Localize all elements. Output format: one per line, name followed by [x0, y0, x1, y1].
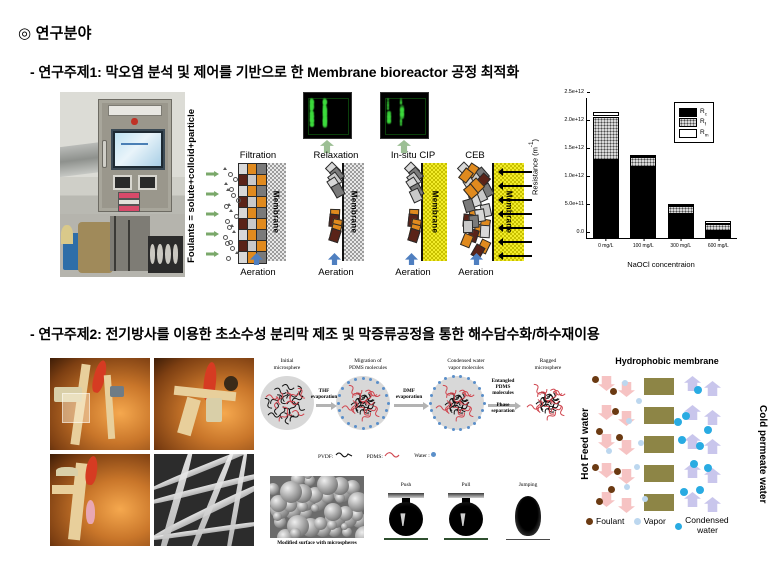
bullet-icon: ◎	[18, 25, 31, 42]
panel-ceb: CEB Membrane Aeration	[452, 150, 530, 278]
chart-xtick: 0 mg/L	[598, 243, 613, 249]
suspended-particle	[223, 167, 227, 170]
suspended-particle	[229, 187, 234, 192]
chart-bar-segment-Rm	[705, 221, 731, 224]
microsphere-ragged	[522, 376, 574, 428]
legend-water: Water :	[414, 452, 436, 459]
arrow-label-entangled: Entangled PDMS molecules Phase separatio…	[484, 378, 522, 414]
arrow-label-thf: THF evaporation	[308, 388, 340, 400]
page-title-text: 연구분야	[36, 25, 92, 42]
chart-bar-segment-Rc	[705, 231, 731, 238]
membrane-slab	[644, 407, 674, 424]
water-molecule-dot	[452, 375, 455, 378]
membrane-slab	[644, 378, 674, 395]
aeration-label: Aeration	[222, 267, 294, 278]
pvdf-curve-icon	[335, 450, 353, 458]
step-caption-2: Migration ofPDMS molecules	[332, 358, 404, 372]
suspended-particle	[224, 182, 228, 185]
chart-bar-segment-Rf	[668, 206, 694, 214]
chart-legend-item: Rc	[679, 108, 709, 117]
water-molecule-dot	[478, 387, 481, 390]
suspended-particle	[227, 203, 231, 206]
membrane-block: Membrane	[421, 163, 447, 261]
foulant-particle	[592, 464, 599, 471]
section-mbr: Foulants = solute+colloid+particle Filtr…	[0, 88, 768, 293]
feed-arrow-icon	[206, 251, 219, 257]
pdms-curve-icon	[384, 450, 400, 458]
feed-arrow-icon	[206, 191, 219, 197]
legend-swatch	[679, 129, 697, 138]
condensed-water-droplet	[704, 464, 712, 472]
chart-bar	[668, 204, 694, 238]
chart-bar-segment-Rf	[705, 224, 731, 231]
panel-title: CEB	[452, 150, 498, 161]
microsphere-condensed	[430, 376, 484, 430]
microsphere-grain	[335, 493, 345, 503]
water-molecule-dot	[347, 422, 350, 425]
legend-item-vapor: Vapor	[634, 516, 666, 526]
arrow-right-icon	[394, 404, 424, 407]
foulant-particle	[592, 376, 599, 383]
chart-ytick: 2.0e+12	[564, 117, 587, 123]
biofilm-spot	[310, 120, 313, 123]
chart-bar	[593, 112, 619, 238]
permeate-flow-arrow-icon	[704, 410, 721, 425]
water-molecule-dot	[473, 381, 476, 384]
foulant-particle	[614, 468, 621, 475]
foulant-particle	[608, 486, 615, 493]
chart-ytick: 0.0	[577, 229, 588, 235]
vapor-molecule	[638, 440, 644, 446]
water-molecule-dot	[438, 381, 441, 384]
biofilm-spot	[310, 123, 314, 127]
biofilm-spot	[387, 120, 391, 124]
electrospinning-photo-2	[154, 358, 254, 450]
water-molecule-dot	[444, 377, 447, 380]
confocal-image-cip	[380, 92, 429, 139]
suspended-particle	[232, 230, 236, 233]
condensed-water-droplet	[696, 486, 704, 494]
chart-legend-item: Rm	[679, 129, 709, 138]
membrane-distillation-legend: Foulant Vapor Condensed water	[586, 516, 764, 536]
membrane-slab	[644, 465, 674, 482]
legend-label: Rm	[700, 129, 709, 137]
foulant-particle	[616, 434, 623, 441]
foulant-floc	[480, 225, 491, 239]
microsphere-grain	[314, 517, 327, 530]
feed-flow-arrow-icon	[598, 434, 615, 449]
foulants-axis-label: Foulants = solute+colloid+particle	[186, 106, 197, 266]
legend-label: Rc	[700, 108, 707, 116]
panel-title: Filtration	[222, 150, 294, 161]
legend-item-foulant: Foulant	[586, 516, 624, 526]
aeration-label: Aeration	[452, 267, 500, 278]
aeration-label: Aeration	[300, 267, 372, 278]
panel-title: In-situ CIP	[377, 150, 449, 161]
electrospinning-photo-3	[50, 454, 150, 546]
meter-display-1	[113, 175, 132, 190]
cold-permeate-water-label: Cold permeate water	[757, 370, 768, 538]
aeration-label: Aeration	[377, 267, 449, 278]
chart-ytick: 2.5e+12	[564, 89, 587, 95]
membrane-label: Membrane	[350, 191, 359, 233]
electrospinning-photo-grid	[50, 358, 256, 548]
electrospinning-photo-1	[50, 358, 150, 450]
condensed-water-droplet	[682, 412, 690, 420]
droplet-label: Push	[380, 482, 432, 488]
switch-row-3	[118, 205, 140, 212]
water-molecule-dot	[354, 378, 357, 381]
water-molecule-dot	[430, 409, 433, 412]
water-molecule-dot	[478, 416, 481, 419]
microsphere-migration	[336, 376, 390, 430]
condensed-water-droplet	[696, 442, 704, 450]
condensed-water-droplet	[680, 488, 688, 496]
chart-ytick: 1.0e+12	[564, 173, 587, 179]
condensed-water-droplet	[690, 460, 698, 468]
panel-filtration: Filtration Membrane Aeration	[222, 150, 294, 278]
chart-bar-segment-Rm	[668, 204, 694, 206]
water-molecule-dot	[444, 426, 447, 429]
water-molecule-dot	[362, 427, 365, 430]
foulant-floc	[463, 220, 473, 233]
arrow-right-icon	[316, 404, 332, 407]
water-molecule-dot	[341, 387, 344, 390]
legend-pdms: PDMS:	[367, 450, 401, 460]
cake-layer	[460, 163, 492, 261]
step-caption-4: Raggedmicrosphere	[520, 358, 576, 372]
condensed-water-droplet	[678, 436, 686, 444]
chart-plot-area: 0.05.0e+111.0e+121.5e+122.0e+122.5e+120 …	[586, 98, 737, 239]
chart-bar	[705, 221, 731, 238]
feed-flow-arrow-icon	[618, 440, 635, 455]
legend-swatch	[679, 108, 697, 117]
hydrophobic-membrane-title: Hydrophobic membrane	[592, 356, 742, 366]
resistance-bar-chart: Resistance (m-1) 0.05.0e+111.0e+121.5e+1…	[524, 88, 760, 283]
chart-xtick: 600 mg/L	[708, 243, 729, 249]
vapor-molecule	[622, 380, 628, 386]
water-molecule-dot	[376, 381, 379, 384]
suspended-particle	[229, 209, 233, 212]
chart-ytick: 5.0e+11	[565, 201, 587, 207]
microsphere-grain	[348, 492, 364, 512]
legend-pvdf: PVDF:	[318, 450, 353, 460]
microsphere-grain	[270, 483, 279, 495]
water-molecule-dot	[354, 425, 357, 428]
condensed-water-dot-icon	[675, 523, 682, 530]
sem-microsphere-surface	[270, 476, 364, 538]
foulant-particle	[596, 498, 603, 505]
biofilm-spot	[400, 114, 404, 118]
water-molecule-dot	[467, 426, 470, 429]
topic2-heading: - 연구주제2: 전기방사를 이용한 초소수성 분리막 제조 및 막증류공정을 …	[30, 324, 600, 344]
suspended-particle	[230, 224, 234, 227]
page-title: ◎ 연구분야	[18, 22, 92, 43]
permeate-flow-arrow-icon	[704, 497, 721, 512]
chart-ylabel: Resistance (m-1)	[528, 139, 540, 197]
membrane-block: Membrane	[342, 163, 364, 261]
water-molecule-dot	[430, 394, 433, 397]
membrane-distillation-diagram: Hydrophobic membrane Hot Feed water Cold…	[586, 356, 766, 568]
suspended-particle	[236, 198, 241, 203]
feed-arrow-icon	[206, 231, 219, 237]
legend-item-condensed-water: Condensed water	[675, 516, 728, 536]
vapor-dot-icon	[634, 518, 641, 525]
chart-ytick: 1.5e+12	[564, 145, 587, 151]
water-molecule-dot	[382, 416, 385, 419]
panel-in-situ-cip: In-situ CIP Membrane Aeration	[377, 150, 449, 278]
droplet-label: Jumping	[502, 482, 554, 488]
water-molecule-dot	[387, 402, 390, 405]
legend-swatch	[679, 118, 697, 127]
water-molecule-dot	[473, 422, 476, 425]
water-molecule-dot	[376, 422, 379, 425]
chart-bar-segment-Rc	[668, 214, 694, 238]
microsphere-grain	[311, 504, 319, 512]
feed-flow-arrow-icon	[598, 463, 615, 478]
water-molecule-dot	[438, 422, 441, 425]
topic1-heading: - 연구주제1: 막오염 분석 및 제어를 기반으로 한 Membrane bi…	[30, 62, 519, 82]
suspended-particle	[223, 235, 228, 240]
membrane-block: Membrane	[492, 163, 524, 261]
cake-layer	[407, 163, 421, 261]
water-molecule-dot	[385, 394, 388, 397]
water-molecule-dot	[385, 409, 388, 412]
water-molecule-dot	[382, 387, 385, 390]
step-caption-1: Initialmicrosphere	[258, 358, 316, 372]
permeate-flow-arrow-icon	[704, 439, 721, 454]
microsphere-legend: PVDF: PDMS: Water :	[318, 450, 538, 460]
water-molecule-dot	[433, 416, 436, 419]
water-molecule-dot	[433, 387, 436, 390]
biofilm-spot	[323, 114, 326, 117]
microsphere-grain	[290, 528, 301, 538]
permeate-flow-arrow-icon	[704, 381, 721, 396]
water-molecule-dot	[459, 428, 462, 431]
droplet-jumping: Jumping	[502, 482, 554, 540]
panel-relaxation: Relaxation Membrane Aeration	[300, 150, 372, 278]
chart-bar-segment-Rc	[593, 160, 619, 238]
water-molecule-dot	[369, 425, 372, 428]
membrane-slab	[644, 494, 674, 511]
confocal-image-relaxation	[303, 92, 352, 139]
vapor-molecule	[634, 464, 640, 470]
droplet-push: Push	[380, 482, 432, 540]
panel-title: Relaxation	[300, 150, 372, 161]
foulant-particle	[596, 428, 603, 435]
water-molecule-dot	[362, 377, 365, 380]
microsphere-formation-diagram: Initialmicrosphere Migration ofPDMS mole…	[258, 358, 576, 466]
meter-display-2	[138, 175, 157, 190]
arrow-label-dmf: DMF evaporation	[391, 388, 427, 400]
feed-arrow-icon	[206, 171, 219, 177]
water-molecule-dot	[452, 428, 455, 431]
condensed-water-droplet	[704, 426, 712, 434]
foulant-particle	[612, 408, 619, 415]
vapor-molecule	[626, 418, 632, 424]
hmi-touchscreen	[111, 129, 165, 170]
feed-flow-arrow-icon	[618, 498, 635, 513]
foulant-particle	[610, 388, 617, 395]
suspended-particle	[231, 193, 236, 198]
microsphere-initial	[260, 376, 314, 430]
chart-xlabel: NaOCl concentraion	[586, 260, 736, 269]
step-caption-3: Condensed watervapor molecules	[426, 358, 506, 372]
biofilm-spot	[323, 100, 328, 105]
indicator-lamp-icon	[131, 118, 137, 125]
chart-legend-item: Rf	[679, 118, 709, 127]
suspended-particle	[226, 256, 231, 261]
foulant-floc	[328, 228, 342, 243]
vapor-molecule	[606, 448, 612, 454]
foulant-dot-icon	[586, 518, 593, 525]
droplet-pull: Pull	[440, 482, 492, 540]
membrane-label: Membrane	[272, 191, 281, 233]
water-molecule-dot	[341, 416, 344, 419]
suspended-particle	[235, 251, 239, 254]
chart-bar	[630, 155, 656, 238]
water-molecule-dot	[459, 375, 462, 378]
foulant-floc	[407, 228, 421, 243]
insulation-bag	[78, 222, 113, 274]
water-molecule-dot	[467, 377, 470, 380]
chart-xtick: 300 mg/L	[670, 243, 691, 249]
hot-feed-water-label: Hot Feed water	[580, 378, 591, 510]
microsphere-grain	[304, 476, 312, 479]
membrane-slab	[644, 436, 674, 453]
membrane-block: Membrane	[264, 163, 286, 261]
chart-bar-segment-Rc	[630, 167, 656, 238]
surface-and-droplet-row: Modified surface with microspheres Push …	[270, 470, 570, 568]
microsphere-grain	[270, 476, 271, 477]
feed-arrow-icon	[206, 211, 219, 217]
chart-bar-segment-Rm	[593, 112, 619, 116]
chart-bar-segment-Rm	[630, 155, 656, 157]
membrane-label: Membrane	[431, 191, 440, 233]
microsphere-grain	[324, 503, 342, 521]
condensed-water-droplet	[674, 418, 682, 426]
small-vessel	[61, 225, 72, 244]
section-electrospinning: Initialmicrosphere Migration ofPDMS mole…	[0, 352, 768, 574]
suspended-particle	[228, 172, 233, 177]
vapor-molecule	[642, 496, 648, 502]
vapor-molecule	[636, 398, 642, 404]
suspended-particle	[234, 214, 239, 219]
droplet-label: Pull	[440, 482, 492, 488]
sem-caption: Modified surface with microspheres	[266, 540, 368, 546]
water-molecule-dot	[338, 409, 341, 412]
cabinet-handle	[102, 140, 107, 168]
mbr-pilot-photo	[60, 92, 185, 277]
water-dot-icon	[431, 452, 436, 457]
suspended-particle	[228, 240, 233, 245]
cake-layer	[328, 163, 342, 261]
slide-page: ◎ 연구분야 - 연구주제1: 막오염 분석 및 제어를 기반으로 한 Memb…	[0, 0, 768, 576]
water-molecule-dot	[369, 378, 372, 381]
chart-bar-segment-Rf	[593, 117, 619, 160]
chart-bar-segment-Rf	[630, 157, 656, 167]
chart-legend: RcRfRm	[674, 102, 714, 143]
sem-nanofiber-photo	[154, 454, 254, 546]
suspended-particle	[233, 177, 238, 182]
foulant-floc	[460, 233, 474, 249]
pump-bank	[148, 236, 183, 273]
condensed-water-droplet	[694, 386, 702, 394]
piping-rig	[110, 216, 150, 272]
cabinet-nameplate	[108, 105, 163, 116]
cake-layer	[238, 163, 264, 261]
chart-xtick: 100 mg/L	[633, 243, 654, 249]
legend-label: Rf	[700, 118, 706, 126]
vapor-molecule	[624, 484, 630, 490]
microsphere-grain	[280, 481, 302, 503]
